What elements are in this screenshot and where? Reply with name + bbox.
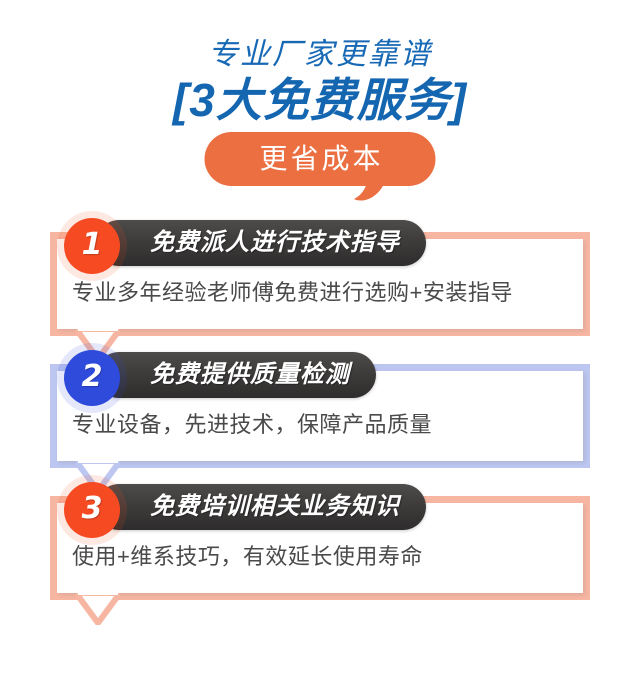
service-card-3[interactable]: 免费培训相关业务知识 3 使用+维系技巧，有效延长使用寿命 <box>50 480 590 600</box>
header-subtitle: 专业厂家更靠谱 <box>0 36 640 74</box>
card-body-text: 使用+维系技巧，有效延长使用寿命 <box>72 544 423 569</box>
card-number-label: 3 <box>82 494 103 526</box>
cost-saving-badge-label: 更省成本 <box>256 144 383 174</box>
service-cards-list: 免费派人进行技术指导 1 专业多年经验老师傅免费进行选购+安装指导 免费提供质量… <box>0 206 640 600</box>
page-header: 专业厂家更靠谱 [3大免费服务] <box>0 0 640 128</box>
service-card-2[interactable]: 免费提供质量检测 2 专业设备，先进技术，保障产品质量 <box>50 348 590 468</box>
card-heading-text: 免费培训相关业务知识 <box>150 494 400 520</box>
card-heading-text: 免费提供质量检测 <box>150 362 350 388</box>
card-heading-text: 免费派人进行技术指导 <box>150 230 400 256</box>
service-card-1[interactable]: 免费派人进行技术指导 1 专业多年经验老师傅免费进行选购+安装指导 <box>50 216 590 336</box>
page-title: [3大免费服务] <box>0 72 640 128</box>
card-body-text: 专业多年经验老师傅免费进行选购+安装指导 <box>72 280 513 305</box>
card-number-badge: 2 <box>64 350 120 406</box>
card-heading-pill: 免费派人进行技术指导 <box>96 220 426 266</box>
card-body: 专业多年经验老师傅免费进行选购+安装指导 <box>72 278 570 308</box>
card-body-text: 专业设备，先进技术，保障产品质量 <box>72 412 432 437</box>
card-number-badge: 3 <box>64 482 120 538</box>
card-body: 使用+维系技巧，有效延长使用寿命 <box>72 542 570 572</box>
card-heading-pill: 免费提供质量检测 <box>96 352 376 398</box>
card-number-badge: 1 <box>64 218 120 274</box>
card-pointer-notch-icon <box>76 593 120 625</box>
card-number-label: 1 <box>82 230 103 262</box>
badge-container: 更省成本 <box>0 132 640 206</box>
card-heading-pill: 免费培训相关业务知识 <box>96 484 426 530</box>
card-body: 专业设备，先进技术，保障产品质量 <box>72 410 570 440</box>
card-number-label: 2 <box>82 362 103 394</box>
cost-saving-badge[interactable]: 更省成本 <box>205 132 436 186</box>
